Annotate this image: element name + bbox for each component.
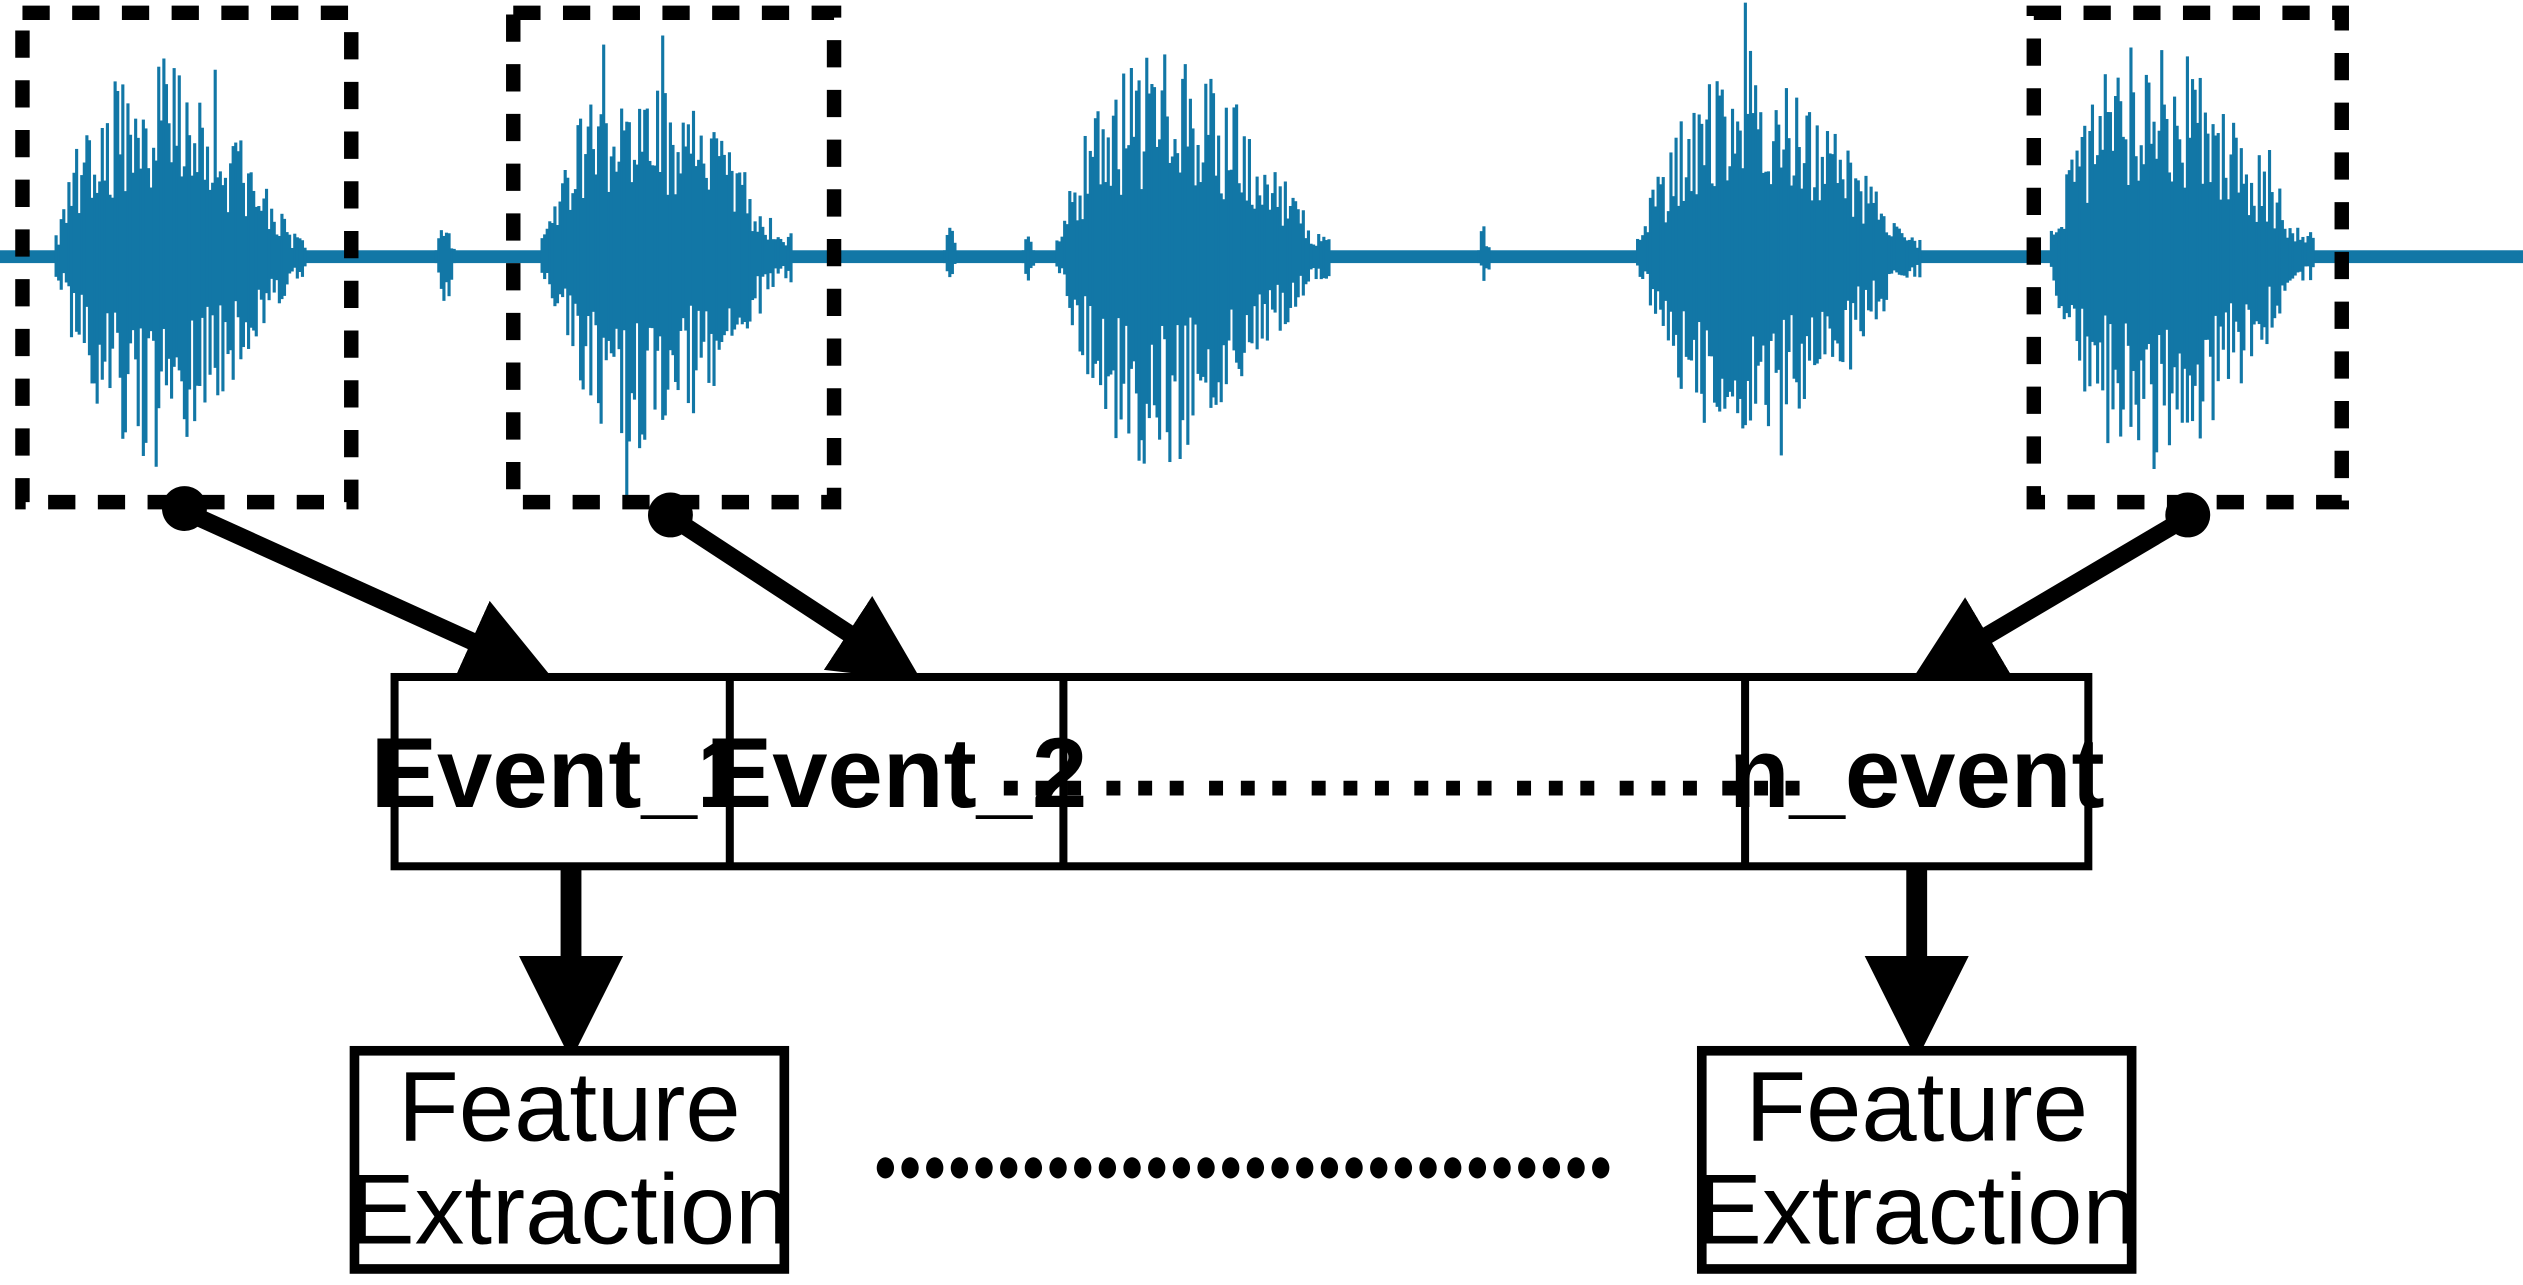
waveform-bars [55, 3, 2315, 497]
ellipsis-dot [1049, 1157, 1066, 1178]
arrow-selection-1-to-event-1 [162, 486, 526, 666]
event-cell-1-label[interactable]: Event_1 [371, 718, 752, 829]
arrow-selection-n-to-n-event [1936, 493, 2210, 666]
waveform-bar [789, 233, 792, 282]
feature-extraction-box-left[interactable]: Feature Extraction [348, 1051, 790, 1269]
ellipsis-dot [926, 1157, 943, 1178]
ellipsis-dot [1345, 1157, 1362, 1178]
ellipsis-dot [1321, 1157, 1338, 1178]
ellipsis-dot [1247, 1157, 1264, 1178]
ellipsis-dot [1099, 1157, 1116, 1178]
waveform-bar [1032, 250, 1035, 265]
ellipsis-dot [1025, 1157, 1042, 1178]
arrow-line-1 [189, 513, 526, 665]
ellipsis-dot [1074, 1157, 1091, 1178]
waveform-bar [953, 243, 956, 264]
waveform-bar [1327, 239, 1330, 276]
ellipsis-dot [1543, 1157, 1560, 1178]
waveform-bar [1918, 240, 1921, 277]
event-cell-ellipsis-label: …………………… [993, 707, 1814, 818]
ellipsis-dot [1395, 1157, 1412, 1178]
ellipsis-dot [1567, 1157, 1584, 1178]
ellipsis-dot [1296, 1157, 1313, 1178]
ellipsis-dot [1592, 1157, 1609, 1178]
ellipsis-dot [1271, 1157, 1288, 1178]
arrow-line-2 [675, 520, 898, 666]
arrow-selection-2-to-event-2 [648, 493, 898, 666]
ellipsis-dot [901, 1157, 918, 1178]
bottom-ellipsis [877, 1157, 1610, 1178]
waveform-bar [1487, 247, 1490, 269]
ellipsis-dot [1197, 1157, 1214, 1178]
ellipsis-dot [1000, 1157, 1017, 1178]
ellipsis-dot [1518, 1157, 1535, 1178]
event-cell-n-label[interactable]: n_event [1729, 718, 2105, 829]
ellipsis-dot [1444, 1157, 1461, 1178]
ellipsis-dot [1222, 1157, 1239, 1178]
waveform-bar [2312, 238, 2315, 267]
waveform-bar [453, 249, 456, 263]
feature-extraction-right-line1: Feature [1745, 1052, 2088, 1163]
arrow-line-n [1936, 520, 2183, 666]
ellipsis-dot [1148, 1157, 1165, 1178]
audio-waveform [0, 3, 2523, 497]
event-segments-row: Event_1 Event_2 …………………… n_event [371, 677, 2105, 866]
waveform-bar [303, 248, 306, 267]
ellipsis-dot [1123, 1157, 1140, 1178]
selection-to-event-arrows [162, 486, 2210, 666]
ellipsis-dot [1493, 1157, 1510, 1178]
feature-extraction-left-line1: Feature [398, 1052, 741, 1163]
diagram-canvas: Event_1 Event_2 …………………… n_event Feature… [0, 0, 2523, 1285]
ellipsis-dot [1469, 1157, 1486, 1178]
ellipsis-dot [1419, 1157, 1436, 1178]
ellipsis-dot [975, 1157, 992, 1178]
feature-extraction-right-line2: Extraction [1696, 1154, 2138, 1265]
event-to-feature-arrows [571, 866, 1917, 1026]
ellipsis-dot [1370, 1157, 1387, 1178]
feature-extraction-left-line2: Extraction [348, 1154, 790, 1265]
feature-extraction-boxes: Feature Extraction Feature Extraction [348, 1051, 2137, 1269]
feature-extraction-box-right[interactable]: Feature Extraction [1696, 1051, 2138, 1269]
ellipsis-dot [877, 1157, 894, 1178]
pipeline-diagram: Event_1 Event_2 …………………… n_event Feature… [0, 0, 2523, 1285]
ellipsis-dot [951, 1157, 968, 1178]
ellipsis-dot [1173, 1157, 1190, 1178]
